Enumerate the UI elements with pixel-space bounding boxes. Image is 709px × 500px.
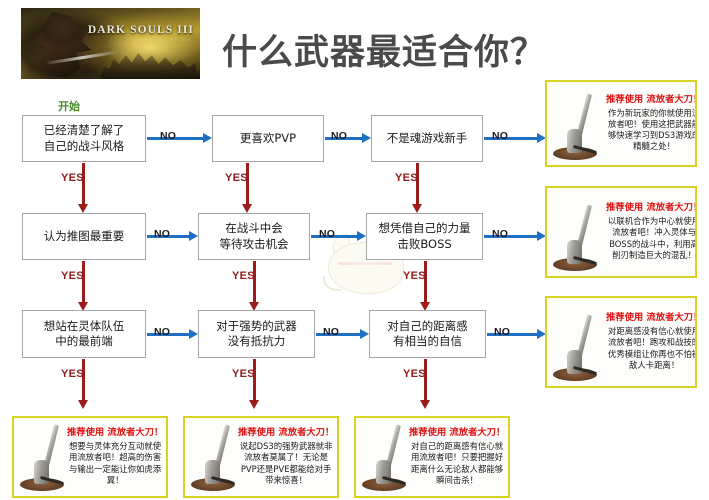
result-body: 对自己的距离感有信心就用流放者吧！只要把握好距离什么无论敌人都能够瞬间击杀！ (409, 441, 505, 485)
result-headline: 推荐使用 流放者大刀！ (67, 427, 163, 438)
result-headline: 推荐使用 流放者大刀！ (238, 427, 334, 438)
result-box-r1: 推荐使用 流放者大刀！ 作为新玩家的你就使用流放者吧！使用这把武器能够快速学习到… (545, 80, 697, 167)
exile-greatsword-image (547, 188, 605, 276)
result-body: 对距离感没有信心就使用流放者吧！跑攻和战技的优秀模组让你再也不怕被敌人卡距离！ (606, 326, 697, 370)
arrow-yes-q7-r4 (82, 359, 85, 401)
question-line: 想站在灵体队伍 (44, 319, 125, 334)
label-no-q6: NO (492, 228, 508, 240)
start-label: 开始 (58, 98, 80, 114)
question-line: 想凭借自己的力量 (379, 221, 471, 236)
label-yes-q8: YES (232, 368, 255, 380)
label-no-q4: NO (154, 228, 170, 240)
question-box-q3: 不是魂游戏新手 (371, 115, 483, 162)
question-box-q9: 对自己的距离感 有相当的自信 (369, 310, 486, 358)
exile-greatsword-image (185, 418, 237, 496)
result-box-r2: 推荐使用 流放者大刀！ 以联机合作为中心就使用流放者吧！冲入灵体与BOSS的战斗… (545, 186, 697, 278)
question-box-q5: 在战斗中会 等待攻击机会 (198, 213, 310, 260)
arrow-yes-q9-r6 (424, 359, 427, 401)
result-box-r3: 推荐使用 流放者大刀！ 对距离感没有信心就使用流放者吧！跑攻和战技的优秀模组让你… (545, 296, 697, 388)
result-body: 作为新玩家的你就使用流放者吧！使用这把武器能够快速学习到DS3游戏的精髓之处！ (606, 108, 697, 152)
question-line: 有相当的自信 (387, 334, 468, 349)
result-headline: 推荐使用 流放者大刀！ (606, 312, 697, 323)
question-line: 没有抵抗力 (216, 334, 297, 349)
arrow-yes-q8-r5 (253, 359, 256, 401)
label-yes-q1: YES (61, 172, 84, 184)
result-box-r4: 推荐使用 流放者大刀！ 想要与灵体充分互动就使用流放者吧！超高的伤害与输出一定能… (12, 416, 168, 498)
exile-greatsword-image (356, 418, 408, 496)
question-line: 自己的战斗风格 (44, 139, 125, 154)
question-box-q6: 想凭借自己的力量 击败BOSS (366, 213, 483, 260)
dark-souls-banner-image: DARK SOULS III PREPARE TO DIE (21, 8, 200, 79)
label-yes-q2: YES (225, 172, 248, 184)
question-line: 已经清楚了解了 (44, 123, 125, 138)
page-title: 什么武器最适合你？ (222, 24, 546, 75)
game-logo-subtext: PREPARE TO DIE (142, 38, 192, 42)
exile-greatsword-image (14, 418, 66, 496)
arrow-yes-q3-q6 (416, 163, 419, 205)
question-box-q2: 更喜欢PVP (212, 115, 324, 162)
question-box-q1: 已经清楚了解了 自己的战斗风格 (22, 115, 146, 162)
arrow-yes-q6-q9 (424, 261, 427, 303)
question-line: 等待攻击机会 (220, 237, 289, 252)
label-no-q1: NO (160, 130, 176, 142)
exile-greatsword-image (547, 82, 605, 165)
label-yes-q4: YES (61, 270, 84, 282)
question-box-q4: 认为推图最重要 (22, 213, 146, 260)
watermark-cheek (338, 262, 392, 265)
label-yes-q3: YES (395, 172, 418, 184)
result-headline: 推荐使用 流放者大刀！ (409, 427, 505, 438)
question-line: 不是魂游戏新手 (387, 131, 468, 146)
question-line: 对自己的距离感 (387, 319, 468, 334)
watermark-tail (323, 276, 341, 291)
result-headline: 推荐使用 流放者大刀！ (606, 94, 697, 105)
flowchart-page: DARK SOULS III PREPARE TO DIE 什么武器最适合你？ … (0, 0, 709, 500)
label-no-q5: NO (319, 228, 335, 240)
arrow-yes-q2-q5 (246, 163, 249, 205)
question-box-q8: 对于强势的武器 没有抵抗力 (198, 310, 315, 358)
label-no-q9: NO (494, 326, 510, 338)
question-line: 击败BOSS (379, 237, 471, 252)
result-headline: 推荐使用 流放者大刀！ (606, 202, 697, 213)
result-body: 以联机合作为中心就使用流放者吧！冲入灵体与BOSS的战斗中，利用高削刃制造巨大的… (606, 216, 697, 260)
arrow-yes-q4-q7 (82, 261, 85, 303)
question-line: 更喜欢PVP (240, 131, 296, 146)
question-line: 在战斗中会 (220, 221, 289, 236)
result-body: 想要与灵体充分互动就使用流放者吧！超高的伤害与输出一定能让你如虎添翼！ (67, 441, 163, 485)
result-body: 说起DS3的强势武器就非流放者莫属了！无论是PVP还是PVE都能给对手带来惊喜！ (238, 441, 334, 485)
question-box-q7: 想站在灵体队伍 中的最前端 (22, 310, 146, 358)
result-box-r5: 推荐使用 流放者大刀！ 说起DS3的强势武器就非流放者莫属了！无论是PVP还是P… (183, 416, 339, 498)
question-line: 认为推图最重要 (44, 229, 125, 244)
label-yes-q7: YES (61, 368, 84, 380)
label-no-q7: NO (154, 326, 170, 338)
knight-artwork (27, 12, 97, 78)
label-yes-q9: YES (403, 368, 426, 380)
result-box-r6: 推荐使用 流放者大刀！ 对自己的距离感有信心就用流放者吧！只要把握好距离什么无论… (354, 416, 510, 498)
label-no-q8: NO (323, 326, 339, 338)
question-line: 中的最前端 (44, 334, 125, 349)
game-logo-text: DARK SOULS III (88, 24, 194, 36)
label-no-q3: NO (492, 130, 508, 142)
question-line: 对于强势的武器 (216, 319, 297, 334)
arrow-yes-q1-q4 (82, 163, 85, 205)
arrow-yes-q5-q8 (253, 261, 256, 303)
exile-greatsword-image (547, 298, 605, 386)
label-no-q2: NO (331, 130, 347, 142)
label-yes-q6: YES (403, 270, 426, 282)
label-yes-q5: YES (232, 270, 255, 282)
